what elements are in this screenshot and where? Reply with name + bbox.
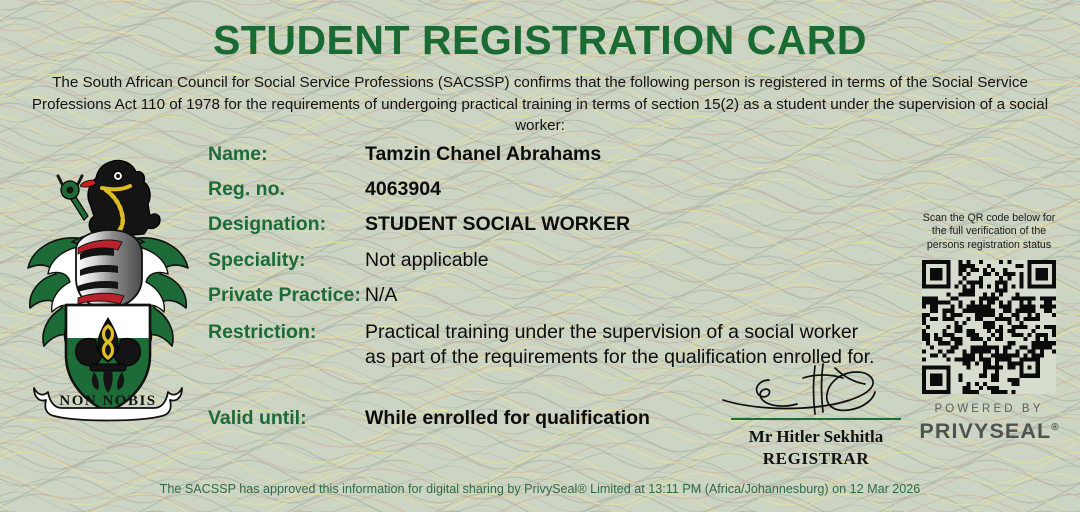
signature-line: [731, 418, 901, 420]
registered-trademark-mark: ®: [1051, 422, 1058, 433]
name-value: Tamzin Chanel Abrahams: [365, 142, 601, 166]
registrar-role: REGISTRAR: [700, 448, 932, 470]
name-label: Name:: [208, 142, 365, 166]
valid-until-label: Valid until:: [208, 406, 365, 430]
helmet: [76, 230, 142, 308]
motto-text: NON NOBIS: [59, 393, 156, 409]
valid-until-value: While enrolled for qualification: [365, 406, 650, 430]
qr-caption-line-1: Scan the QR code below for: [923, 212, 1056, 224]
restriction-line-1: Practical training under the supervision…: [365, 321, 858, 343]
qr-caption-line-3: persons registration status: [927, 239, 1051, 251]
privyseal-wordmark: PRIVYSEAL: [919, 419, 1051, 443]
student-registration-card: STUDENT REGISTRATION CARD The South Afri…: [0, 0, 1080, 512]
speciality-label: Speciality:: [208, 248, 365, 272]
field-row-speciality: Speciality: Not applicable: [208, 248, 908, 272]
reg-no-value: 4063904: [365, 177, 441, 201]
registration-details: Name: Tamzin Chanel Abrahams Reg. no. 40…: [208, 142, 908, 370]
approval-footer: The SACSSP has approved this information…: [0, 481, 1080, 497]
privyseal-brand: PRIVYSEAL®: [919, 416, 1058, 443]
qr-code[interactable]: [922, 260, 1056, 394]
motto-scroll: NON NOBIS: [34, 388, 182, 421]
designation-value: STUDENT SOCIAL WORKER: [365, 212, 630, 236]
designation-label: Designation:: [208, 212, 365, 236]
field-row-name: Name: Tamzin Chanel Abrahams: [208, 142, 908, 166]
field-row-valid-until: Valid until: While enrolled for qualific…: [208, 406, 650, 430]
intro-paragraph: The South African Council for Social Ser…: [28, 72, 1052, 137]
private-practice-value: N/A: [365, 283, 398, 307]
qr-caption-line-2: the full verification of the: [932, 225, 1046, 237]
handwritten-signature-icon: [711, 360, 921, 418]
powered-by-label: POWERED BY: [905, 403, 1073, 416]
field-row-designation: Designation: STUDENT SOCIAL WORKER: [208, 212, 908, 236]
signature-block: Mr Hitler Sekhitla REGISTRAR: [700, 360, 932, 470]
speciality-value: Not applicable: [365, 248, 489, 272]
lion-crest: [58, 160, 160, 236]
qr-verification-panel: Scan the QR code below for the full veri…: [905, 212, 1073, 443]
registrar-name: Mr Hitler Sekhitla: [700, 426, 932, 448]
page-title: STUDENT REGISTRATION CARD: [0, 20, 1080, 61]
restriction-label: Restriction:: [208, 320, 365, 344]
private-practice-label: Private Practice:: [208, 283, 365, 307]
reg-no-label: Reg. no.: [208, 177, 365, 201]
coat-of-arms-emblem: NON NOBIS: [18, 150, 198, 422]
field-row-reg-no: Reg. no. 4063904: [208, 177, 908, 201]
field-row-private-practice: Private Practice: N/A: [208, 283, 908, 307]
qr-caption: Scan the QR code below for the full veri…: [905, 212, 1073, 252]
